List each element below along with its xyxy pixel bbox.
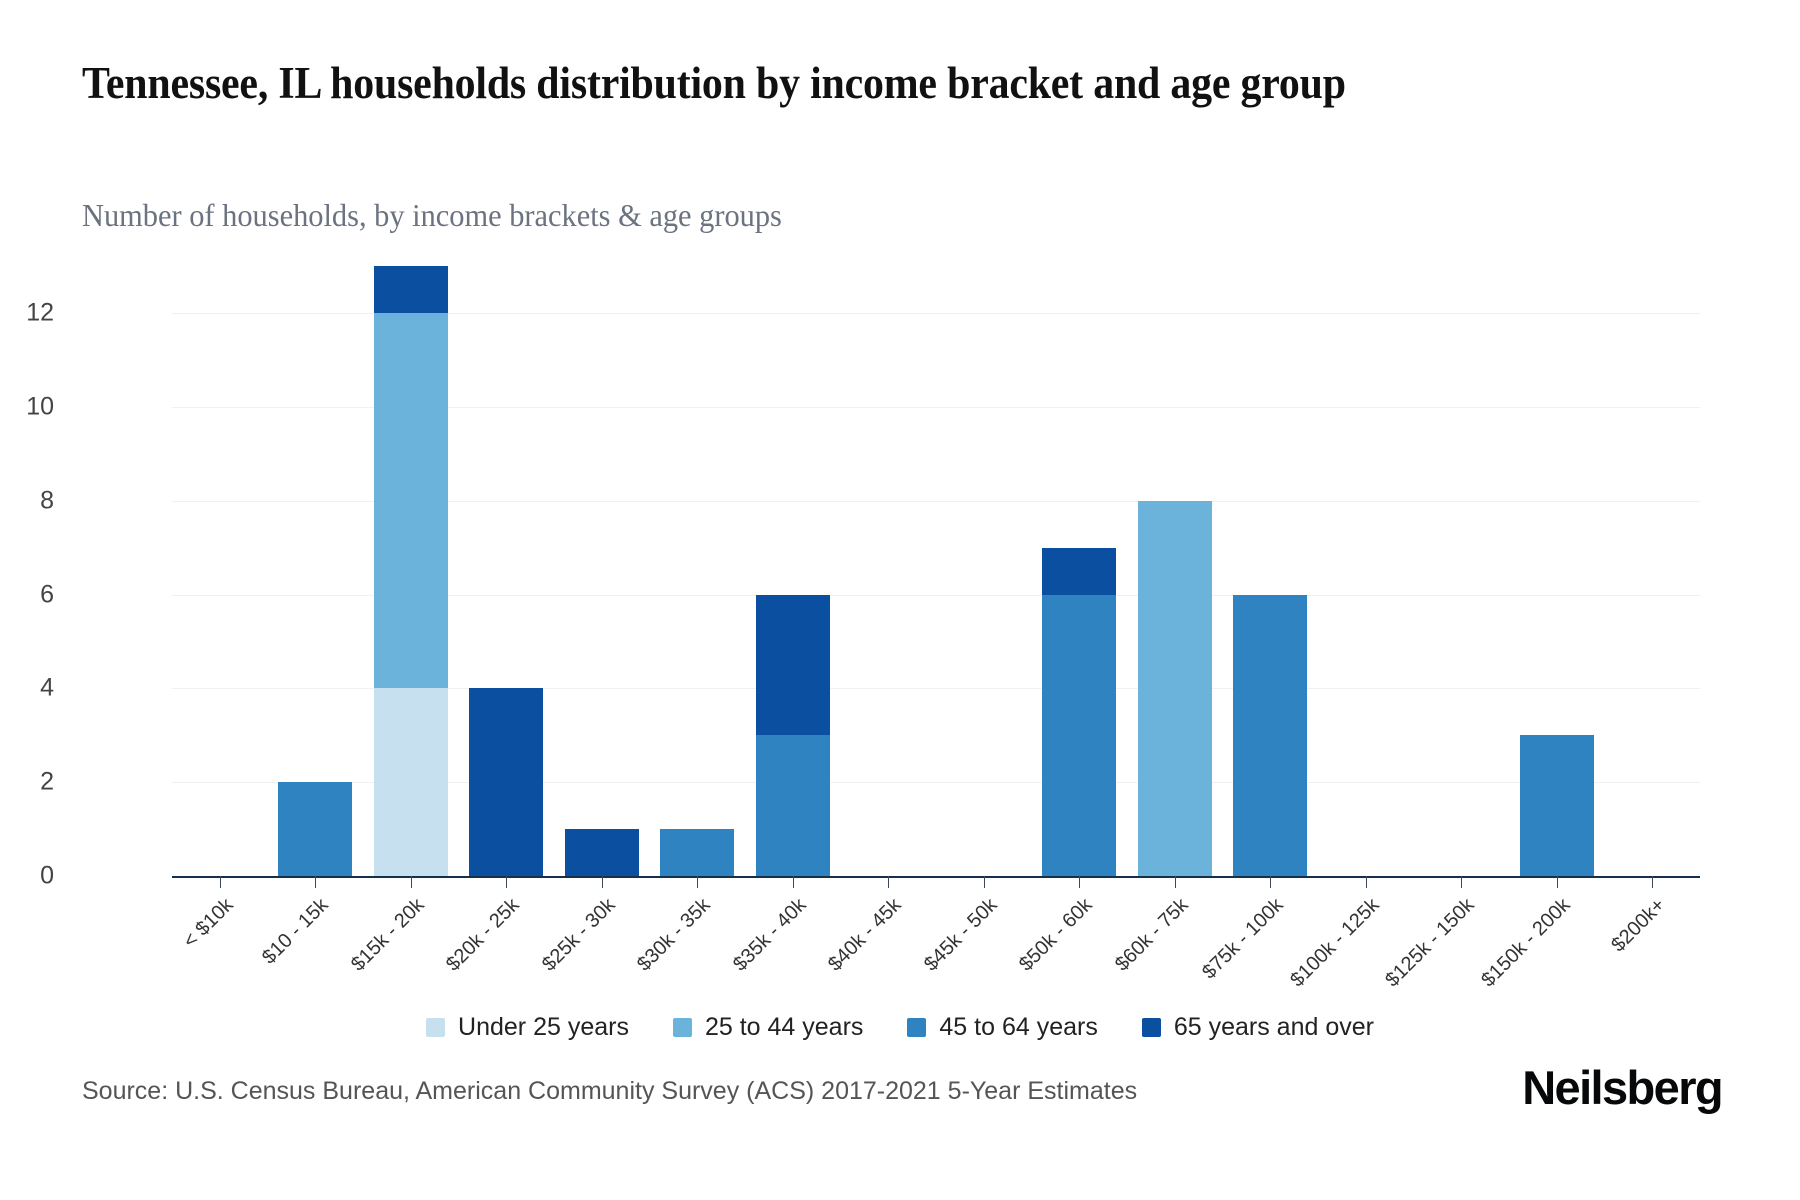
bar-segment[interactable] bbox=[374, 313, 448, 688]
y-axis-tick-label: 12 bbox=[0, 299, 54, 328]
bar-segment[interactable] bbox=[1520, 735, 1594, 876]
legend-swatch-icon bbox=[426, 1018, 445, 1037]
x-axis-tickmark bbox=[793, 876, 794, 888]
bar-stack[interactable] bbox=[565, 829, 639, 876]
bar-segment[interactable] bbox=[1042, 548, 1116, 595]
chart-subtitle: Number of households, by income brackets… bbox=[82, 196, 1412, 234]
x-axis-line bbox=[172, 876, 1700, 878]
bar-segment[interactable] bbox=[1042, 595, 1116, 876]
plot-area: 024681012 < $10k$10 - 15k$15k - 20k$20k … bbox=[172, 250, 1700, 878]
y-axis-tick-label: 2 bbox=[0, 768, 54, 797]
x-axis-tickmark bbox=[1079, 876, 1080, 888]
legend-swatch-icon bbox=[907, 1018, 926, 1037]
bar-stack[interactable] bbox=[374, 266, 448, 876]
bar-segment[interactable] bbox=[374, 688, 448, 876]
legend-item[interactable]: 65 years and over bbox=[1142, 1013, 1374, 1042]
x-axis-tickmark bbox=[220, 876, 221, 888]
bar-stack[interactable] bbox=[660, 829, 734, 876]
x-axis-tickmark bbox=[1461, 876, 1462, 888]
bar-stack[interactable] bbox=[278, 782, 352, 876]
legend-label: 45 to 64 years bbox=[939, 1013, 1097, 1042]
bar-stack[interactable] bbox=[1233, 595, 1307, 876]
legend-item[interactable]: Under 25 years bbox=[426, 1013, 629, 1042]
bar-segment[interactable] bbox=[278, 782, 352, 876]
y-axis-tick-label: 10 bbox=[0, 393, 54, 422]
bar-segment[interactable] bbox=[1138, 501, 1212, 876]
legend-label: 65 years and over bbox=[1174, 1013, 1374, 1042]
source-note: Source: U.S. Census Bureau, American Com… bbox=[82, 1077, 1137, 1106]
legend-swatch-icon bbox=[673, 1018, 692, 1037]
chart-legend: Under 25 years25 to 44 years45 to 64 yea… bbox=[0, 1013, 1800, 1042]
bar-segment[interactable] bbox=[565, 829, 639, 876]
x-axis-tickmark bbox=[1557, 876, 1558, 888]
legend-item[interactable]: 25 to 44 years bbox=[673, 1013, 863, 1042]
bar-segment[interactable] bbox=[1233, 595, 1307, 876]
page-title: Tennessee, IL households distribution by… bbox=[82, 55, 1533, 112]
x-axis-tickmark bbox=[1366, 876, 1367, 888]
x-axis-tickmark bbox=[888, 876, 889, 888]
x-axis-tickmark bbox=[602, 876, 603, 888]
bar-stack[interactable] bbox=[1520, 735, 1594, 876]
legend-swatch-icon bbox=[1142, 1018, 1161, 1037]
legend-label: 25 to 44 years bbox=[705, 1013, 863, 1042]
bar-stack[interactable] bbox=[469, 688, 543, 876]
x-axis-tickmark bbox=[697, 876, 698, 888]
bar-segment[interactable] bbox=[660, 829, 734, 876]
bar-stack[interactable] bbox=[756, 595, 830, 876]
bar-segment[interactable] bbox=[756, 735, 830, 876]
chart-page: Tennessee, IL households distribution by… bbox=[0, 0, 1800, 1200]
bar-series-container bbox=[172, 250, 1700, 878]
y-axis-tick-label: 6 bbox=[0, 580, 54, 609]
x-axis-tickmark bbox=[984, 876, 985, 888]
x-axis-tickmark bbox=[315, 876, 316, 888]
bar-segment[interactable] bbox=[756, 595, 830, 736]
bar-stack[interactable] bbox=[1138, 501, 1212, 876]
y-axis-tick-label: 0 bbox=[0, 862, 54, 891]
bar-stack[interactable] bbox=[1042, 548, 1116, 876]
x-axis-tickmark bbox=[1175, 876, 1176, 888]
y-axis-tick-label: 4 bbox=[0, 674, 54, 703]
x-axis-tickmark bbox=[1270, 876, 1271, 888]
legend-label: Under 25 years bbox=[458, 1013, 629, 1042]
x-axis-tickmark bbox=[1652, 876, 1653, 888]
x-axis-tickmark bbox=[411, 876, 412, 888]
bar-segment[interactable] bbox=[374, 266, 448, 313]
y-axis-tick-label: 8 bbox=[0, 486, 54, 515]
bar-segment[interactable] bbox=[469, 688, 543, 876]
legend-item[interactable]: 45 to 64 years bbox=[907, 1013, 1097, 1042]
x-axis-tickmark bbox=[506, 876, 507, 888]
brand-logo: Neilsberg bbox=[1522, 1060, 1722, 1115]
